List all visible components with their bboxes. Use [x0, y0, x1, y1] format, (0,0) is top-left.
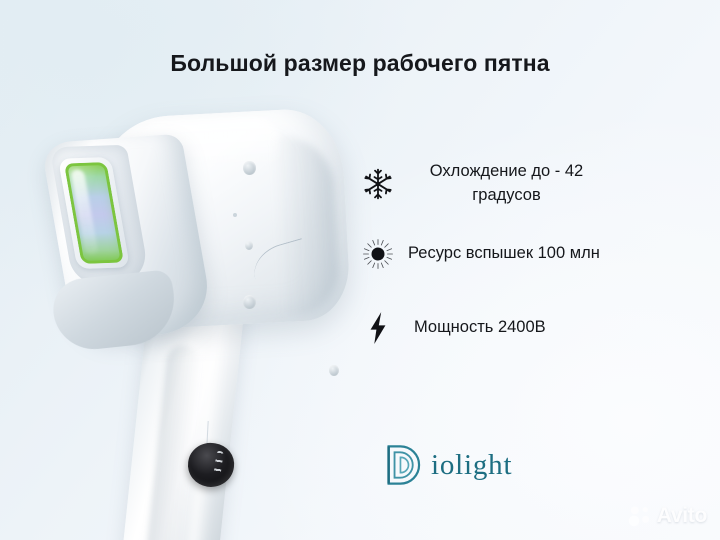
feature-item-cooling: Охлождение до - 42 градусов	[352, 158, 682, 210]
snowflake-icon	[352, 158, 404, 210]
d-monogram-icon	[384, 443, 422, 487]
device-screw-dot	[243, 161, 256, 175]
feature-label: Мощность 2400В	[404, 316, 682, 340]
sun-flash-icon	[352, 228, 404, 280]
brand-logo: iolight	[384, 443, 512, 487]
avito-dots-icon	[628, 504, 652, 528]
feature-label: Ресурс вспышек 100 млн	[404, 242, 682, 266]
brand-logo-text: iolight	[431, 449, 512, 482]
feature-list: Охлождение до - 42 градусов	[352, 158, 682, 372]
avito-watermark: Avito	[628, 504, 707, 528]
product-photo	[40, 95, 340, 540]
feature-item-power: Мощность 2400В	[352, 302, 682, 354]
page-title: Большой размер рабочего пятна	[0, 50, 720, 77]
device-micro-dot	[233, 213, 237, 217]
avito-watermark-text: Avito	[657, 504, 707, 528]
feature-label: Охлождение до - 42 градусов	[404, 160, 609, 208]
device-screw-dot	[245, 241, 253, 250]
device-screw-dot	[243, 295, 256, 309]
product-image-canvas: Большой размер рабочего пятна	[0, 0, 720, 540]
device-screw-dot	[329, 365, 339, 376]
feature-item-flash-lifetime: Ресурс вспышек 100 млн	[352, 228, 682, 280]
lightning-bolt-icon	[352, 302, 404, 354]
